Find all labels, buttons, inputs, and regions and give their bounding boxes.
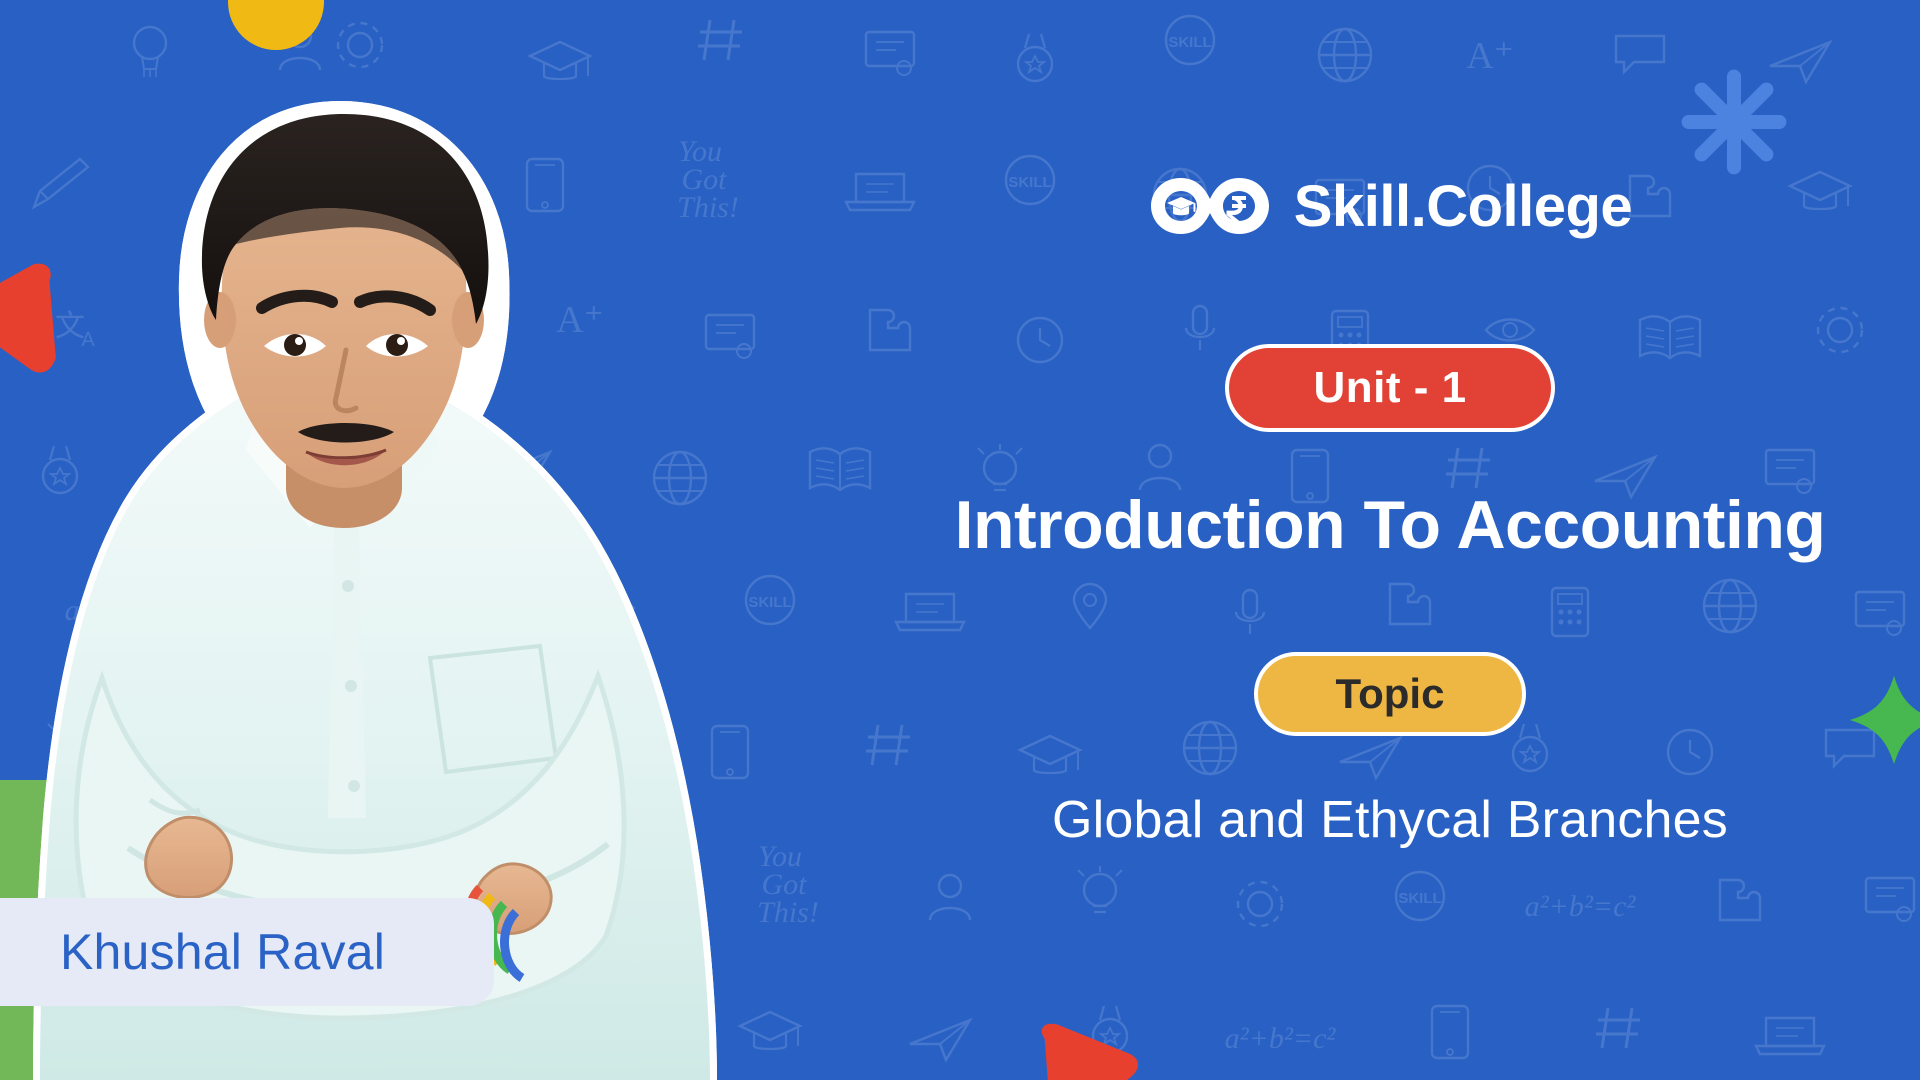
lesson-info-panel: Skill.College Unit - 1 Introduction To A…: [860, 0, 1920, 1080]
course-title: Introduction To Accounting: [955, 486, 1826, 564]
infinity-graduation-cap-rupee-icon: [1148, 172, 1272, 240]
video-thumbnail: A⁺ a²+b²=c² You Got This! SKILL: [0, 0, 1920, 1080]
presenter-name-plate: Khushal Raval: [0, 898, 494, 1006]
topic-badge: Topic: [1254, 652, 1527, 736]
unit-badge: Unit - 1: [1225, 344, 1554, 432]
brand-lockup: Skill.College: [1148, 172, 1632, 240]
presenter-name: Khushal Raval: [60, 923, 385, 981]
graduation-cap-icon: [1167, 197, 1196, 215]
brand-name: Skill.College: [1294, 173, 1632, 240]
topic-title: Global and Ethycal Branches: [1052, 790, 1728, 850]
